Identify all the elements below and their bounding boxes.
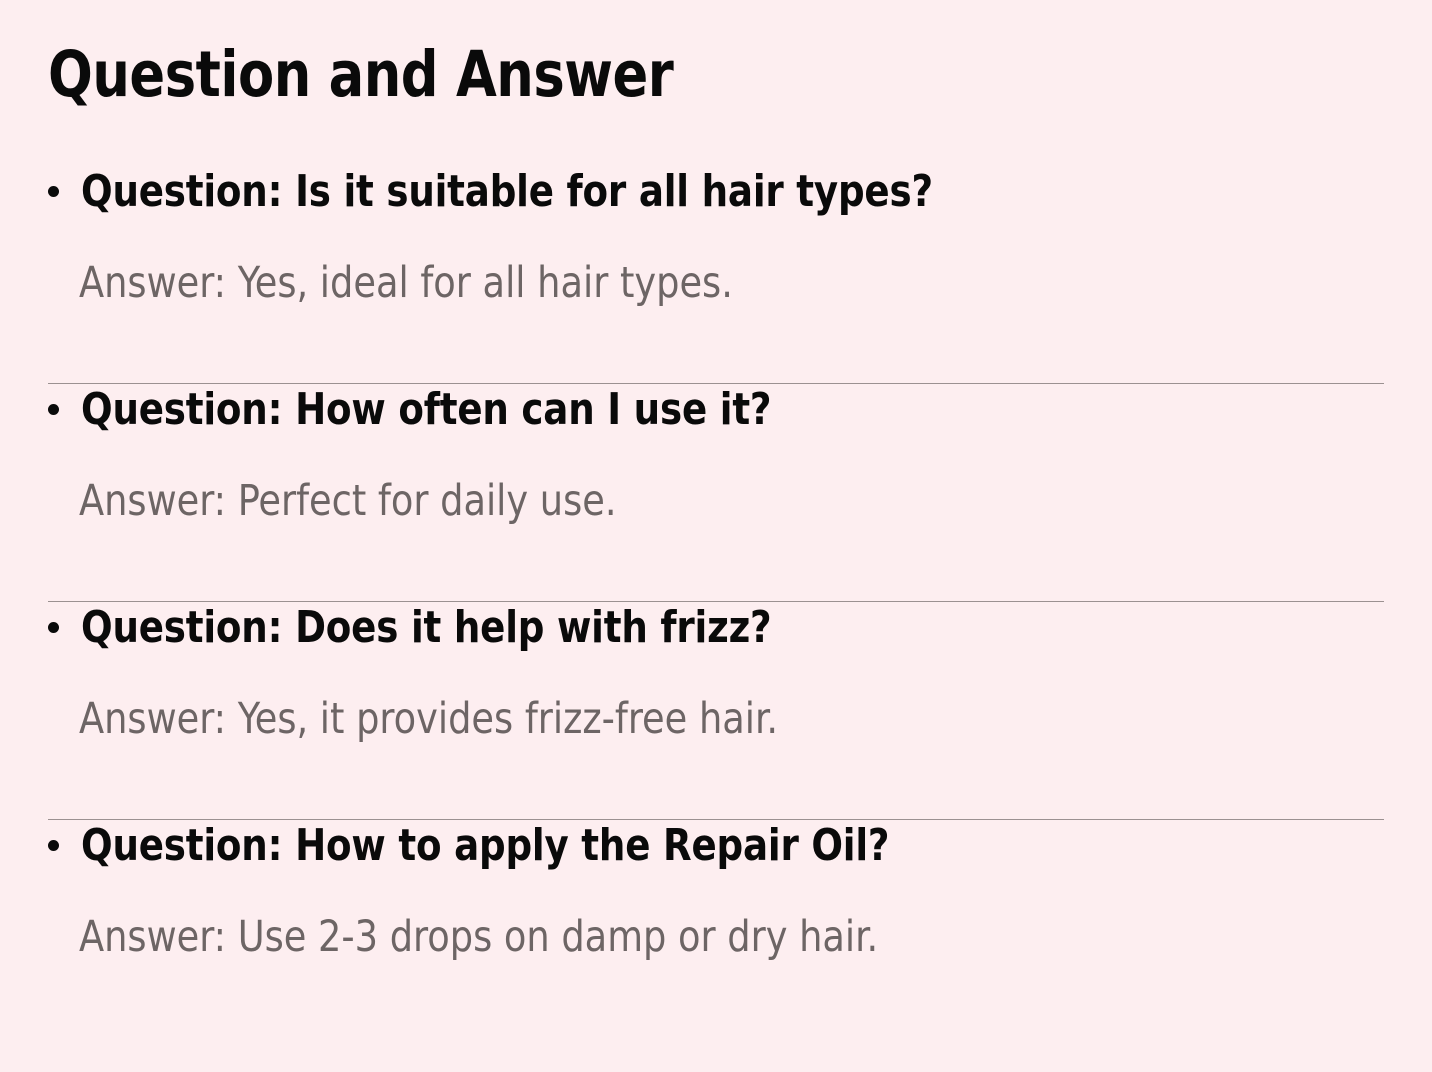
bullet-icon xyxy=(48,622,59,633)
bullet-icon xyxy=(48,840,59,851)
qa-question-text: Question: Does it help with frizz? xyxy=(81,602,771,654)
qa-answer-text: Answer: Use 2-3 drops on damp or dry hai… xyxy=(79,912,878,963)
question-and-answer-page: Question and Answer Question: Is it suit… xyxy=(0,0,1432,1072)
list-item: Question: Is it suitable for all hair ty… xyxy=(0,166,1432,384)
list-item: Question: How often can I use it? Answer… xyxy=(0,384,1432,602)
page-title: Question and Answer xyxy=(48,42,673,108)
qa-list: Question: Is it suitable for all hair ty… xyxy=(0,166,1432,1038)
qa-answer-text: Answer: Yes, it provides frizz-free hair… xyxy=(79,694,778,745)
list-item: Question: How to apply the Repair Oil? A… xyxy=(0,820,1432,1038)
qa-question-text: Question: How to apply the Repair Oil? xyxy=(81,820,889,872)
qa-answer-text: Answer: Perfect for daily use. xyxy=(79,476,617,527)
qa-question-text: Question: Is it suitable for all hair ty… xyxy=(81,166,933,218)
bullet-icon xyxy=(48,186,59,197)
bullet-icon xyxy=(48,404,59,415)
list-item: Question: Does it help with frizz? Answe… xyxy=(0,602,1432,820)
qa-question-text: Question: How often can I use it? xyxy=(81,384,771,436)
qa-answer-text: Answer: Yes, ideal for all hair types. xyxy=(79,258,733,309)
